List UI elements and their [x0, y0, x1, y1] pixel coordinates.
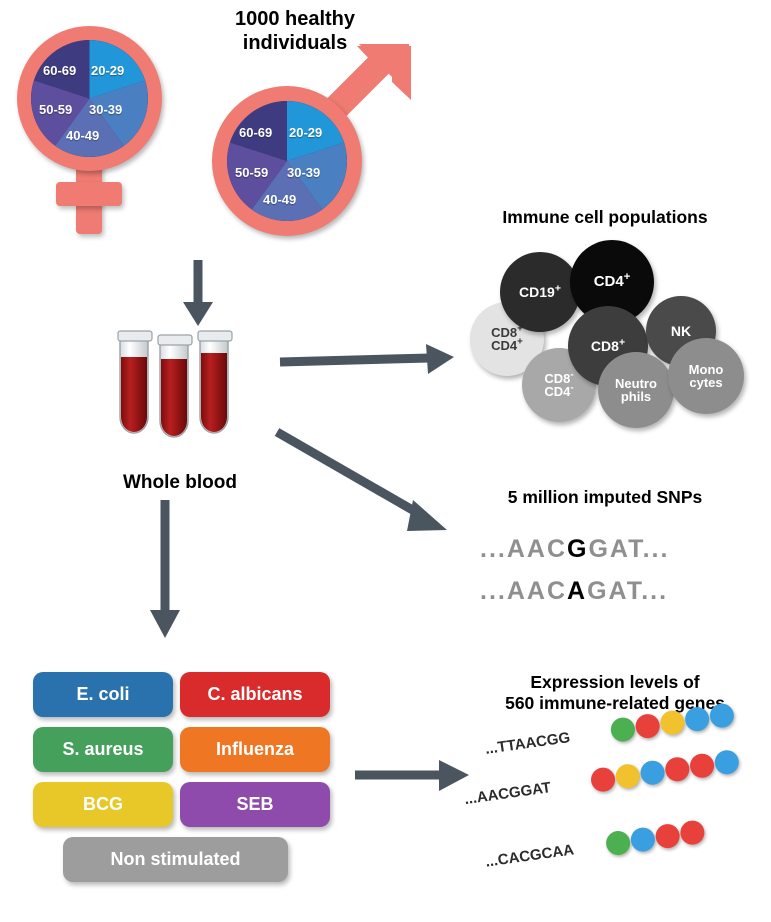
stimulus-e-coli-label: E. coli: [76, 684, 129, 705]
female-age-pie: 20-29 30-39 40-49 50-59 60-69: [31, 40, 148, 157]
gene-bead-2-6: [713, 749, 740, 776]
whole-blood-label: Whole blood: [90, 472, 270, 494]
cd19pos-label: CD19+: [519, 285, 561, 299]
snp-row-1-prefix: ...AAC: [480, 535, 567, 563]
stimulus-seb[interactable]: SEB: [180, 782, 330, 827]
neutrophils-line1: Neutro: [615, 377, 657, 390]
male-age-label-50-59: 50-59: [235, 165, 268, 180]
gene-bead-3-4: [679, 819, 706, 846]
snp-row-2: ...AACAGAT...: [480, 577, 668, 606]
gene-bead-1-1: [609, 716, 636, 743]
arrow-cohort-to-blood: [178, 260, 218, 330]
snp-row-2-suffix: GAT...: [587, 577, 668, 605]
snp-title: 5 million imputed SNPs: [455, 487, 755, 508]
cd8neg-cd4neg-line2: CD4-: [544, 385, 573, 398]
male-symbol: 20-29 30-39 40-49 50-59 60-69: [202, 48, 412, 253]
stimulus-non-stimulated-label: Non stimulated: [110, 849, 240, 870]
immune-cell-monocytes: Mono cytes: [668, 338, 744, 414]
male-age-label-30-39: 30-39: [287, 165, 320, 180]
snp-sequences: ...AACGGAT... ...AACAGAT...: [470, 525, 750, 625]
gene-bead-1-2: [634, 713, 661, 740]
immune-cell-cluster: CD8+ CD4+ CD8- CD4- CD19+ CD4+ CD8+ NK N…: [460, 240, 760, 420]
monocytes-line1: Mono: [689, 363, 724, 376]
stimulus-seb-label: SEB: [236, 794, 273, 815]
stimulus-s-aureus[interactable]: S. aureus: [33, 727, 173, 772]
female-stem-horizontal: [56, 182, 122, 206]
stimulus-bcg[interactable]: BCG: [33, 782, 173, 827]
gene-bead-2-5: [688, 752, 715, 779]
male-age-label-20-29: 20-29: [289, 125, 322, 140]
nk-label: NK: [671, 324, 691, 338]
female-age-label-20-29: 20-29: [91, 63, 124, 78]
snp-row-2-prefix: ...AAC: [480, 577, 567, 605]
stimulus-c-albicans-label: C. albicans: [207, 684, 302, 705]
cohort-title-line1: 1000 healthy: [175, 8, 415, 32]
gene-bead-1-5: [708, 702, 735, 729]
cd8pos-label: CD8+: [591, 339, 625, 353]
stimulus-influenza[interactable]: Influenza: [180, 727, 330, 772]
gene-bead-1-4: [684, 706, 711, 733]
snp-row-1-suffix: GAT...: [588, 535, 669, 563]
stimulus-bcg-label: BCG: [83, 794, 123, 815]
gene-bead-3-1: [605, 830, 632, 857]
gene-bead-2-4: [664, 756, 691, 783]
arrow-blood-to-snps: [275, 430, 465, 545]
stimulus-e-coli[interactable]: E. coli: [33, 672, 173, 717]
cd4pos-label: CD4+: [594, 274, 631, 289]
arrow-blood-to-immune: [280, 340, 460, 380]
gene-strand-1-seq: ...TTAACGG: [484, 729, 571, 758]
blood-tubes: [110, 325, 250, 450]
gene-bead-2-3: [639, 759, 666, 786]
immune-cell-neutrophils: Neutro phils: [598, 352, 674, 428]
gene-bead-3-3: [654, 823, 681, 850]
female-age-label-40-49: 40-49: [66, 128, 99, 143]
stimulus-c-albicans[interactable]: C. albicans: [180, 672, 330, 717]
snp-row-2-variant: A: [567, 577, 587, 605]
monocytes-line2: cytes: [689, 376, 722, 389]
stimulus-influenza-label: Influenza: [216, 739, 294, 760]
stimulus-non-stimulated[interactable]: Non stimulated: [63, 837, 288, 882]
cd8pos-cd4pos-line2: CD4+: [491, 339, 523, 352]
expression-title-line1: Expression levels of: [470, 672, 760, 693]
gene-strand-2-seq: ...AACGGAT: [463, 779, 552, 808]
snp-row-1: ...AACGGAT...: [480, 535, 669, 564]
female-symbol: 20-29 30-39 40-49 50-59 60-69: [8, 14, 188, 244]
neutrophils-line2: phils: [621, 390, 651, 403]
female-age-label-30-39: 30-39: [89, 102, 122, 117]
immune-populations-title: Immune cell populations: [455, 207, 755, 228]
male-age-label-40-49: 40-49: [263, 192, 296, 207]
male-age-label-60-69: 60-69: [239, 125, 272, 140]
snp-row-1-variant: G: [567, 535, 588, 563]
gene-strand-3-seq: ...CACGCAA: [484, 841, 575, 870]
gene-bead-3-2: [629, 826, 656, 853]
gene-bead-2-1: [589, 766, 616, 793]
female-age-label-50-59: 50-59: [39, 102, 72, 117]
female-age-label-60-69: 60-69: [43, 63, 76, 78]
immune-cell-cd19pos: CD19+: [500, 252, 580, 332]
gene-strands: ...TTAACGG ...AACGGAT ...CACGCAA: [455, 735, 765, 905]
arrow-blood-to-stimuli: [143, 500, 188, 645]
gene-bead-1-3: [659, 709, 686, 736]
male-age-pie: 20-29 30-39 40-49 50-59 60-69: [227, 101, 347, 221]
gene-bead-2-2: [614, 763, 641, 790]
stimulus-s-aureus-label: S. aureus: [62, 739, 143, 760]
